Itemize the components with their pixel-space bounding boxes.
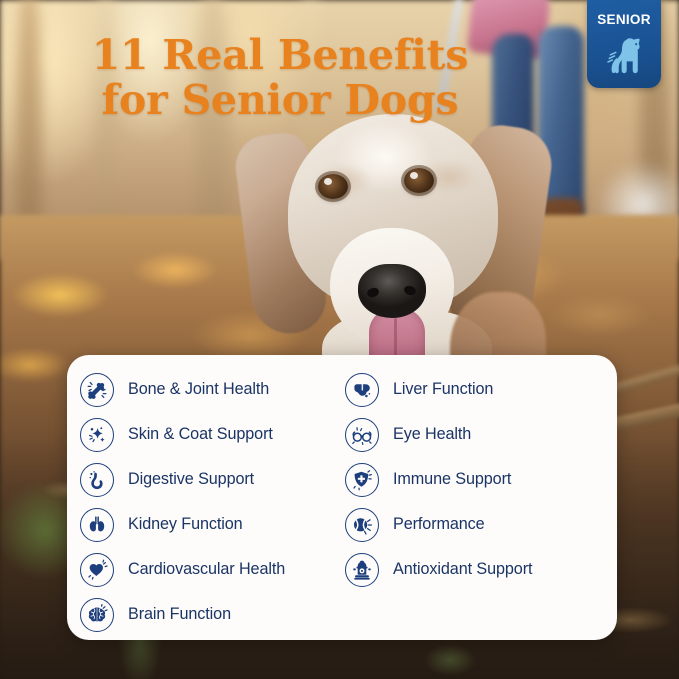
benefit-label: Liver Function [393,380,493,399]
fire-hydrant-icon [345,553,379,587]
benefit-item-kidney-function: Kidney Function [80,502,362,547]
benefit-label: Kidney Function [128,515,243,534]
eyeglasses-icon [345,418,379,452]
benefit-label: Brain Function [128,605,231,624]
benefit-item-immune-support: Immune Support [345,457,607,502]
shield-plus-icon [345,463,379,497]
dog-eye-glint [324,178,332,185]
senior-badge: SENIOR [587,0,661,88]
benefit-item-brain-function: Brain Function [80,592,362,637]
benefit-label: Antioxidant Support [393,560,532,579]
benefit-label: Skin & Coat Support [128,425,273,444]
benefit-item-cardiovascular-health: Cardiovascular Health [80,547,362,592]
stomach-icon [80,463,114,497]
dog-eye-glint [410,172,418,179]
benefit-label: Immune Support [393,470,511,489]
kidneys-icon [80,508,114,542]
benefit-item-eye-health: Eye Health [345,412,607,457]
benefits-column-left: Bone & Joint Health [80,367,362,637]
benefit-label: Bone & Joint Health [128,380,269,399]
headline-line-2: for Senior Dogs [0,79,560,122]
benefit-item-skin-coat-support: Skin & Coat Support [80,412,362,457]
product-infographic: 11 Real Benefits for Senior Dogs SENIOR [0,0,679,679]
sparkle-icon [80,418,114,452]
benefits-column-right: Liver Function [345,367,607,592]
senior-beagle-photo [236,96,566,396]
benefit-label: Cardiovascular Health [128,560,285,579]
heart-icon [80,553,114,587]
benefit-item-liver-function: Liver Function [345,367,607,412]
headline-line-1: 11 Real Benefits [92,31,469,79]
benefit-label: Digestive Support [128,470,254,489]
bone-icon [80,373,114,407]
brain-icon [80,598,114,632]
headline: 11 Real Benefits for Senior Dogs [0,34,560,123]
dog-eye-right [404,168,434,193]
benefit-item-antioxidant-support: Antioxidant Support [345,547,607,592]
benefit-item-digestive-support: Digestive Support [80,457,362,502]
benefits-card: Bone & Joint Health [67,355,617,640]
benefit-label: Eye Health [393,425,471,444]
dog-eye-left [318,174,348,199]
senior-badge-label: SENIOR [597,12,651,27]
benefit-label: Performance [393,515,485,534]
benefit-item-performance: Performance [345,502,607,547]
liver-icon [345,373,379,407]
sitting-dog-icon [599,31,649,84]
benefit-item-bone-joint-health: Bone & Joint Health [80,367,362,412]
tennis-ball-icon [345,508,379,542]
